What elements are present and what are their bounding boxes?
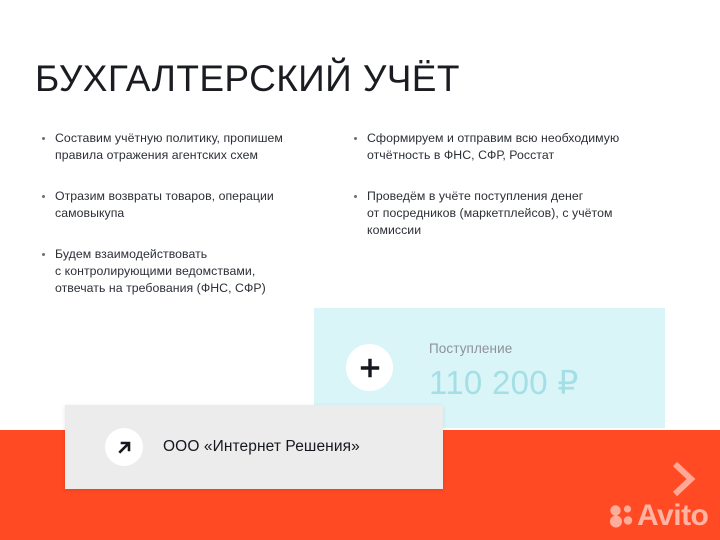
bullet-line: отчётность в ФНС, СФР, Росстат	[367, 147, 652, 164]
payment-type-label: Поступление	[429, 341, 579, 357]
bullet-line: с контролирующими ведомствами,	[55, 263, 330, 280]
bullet-column-right: Сформируем и отправим всю необходимую от…	[352, 130, 652, 239]
bullet-line: Отразим возвраты товаров, операции	[55, 188, 330, 205]
page-title: БУХГАЛТЕРСКИЙ УЧЁТ	[35, 57, 460, 101]
bullet-line: Сформируем и отправим всю необходимую	[367, 130, 652, 147]
bullet-column-left: Составим учётную политику, пропишем прав…	[40, 130, 330, 297]
plus-icon	[346, 344, 393, 391]
list-item: Будем взаимодействовать с контролирующим…	[40, 246, 330, 297]
bullet-line: Составим учётную политику, пропишем	[55, 130, 330, 147]
slide-root: БУХГАЛТЕРСКИЙ УЧЁТ Составим учётную поли…	[0, 0, 720, 540]
bullet-line: самовыкупа	[55, 205, 330, 222]
bullet-dot-icon	[42, 137, 45, 140]
list-item: Составим учётную политику, пропишем прав…	[40, 130, 330, 164]
bullet-line: отвечать на требования (ФНС, СФР)	[55, 280, 330, 297]
counterparty-card: ООО «Интернет Решения»	[65, 405, 443, 489]
bullet-line: правила отражения агентских схем	[55, 147, 330, 164]
bullet-dot-icon	[354, 195, 357, 198]
bullet-dot-icon	[42, 253, 45, 256]
counterparty-name: ООО «Интернет Решения»	[163, 438, 360, 456]
bullet-line: от посредников (маркетплейсов), с учётом	[367, 205, 652, 222]
bullet-line: Будем взаимодействовать	[55, 246, 330, 263]
list-item: Сформируем и отправим всю необходимую от…	[352, 130, 652, 164]
bullet-dot-icon	[42, 195, 45, 198]
bullet-line: Проведём в учёте поступления денег	[367, 188, 652, 205]
arrow-up-right-icon	[105, 428, 143, 466]
payment-amount: 110 200 ₽	[429, 364, 579, 402]
list-item: Отразим возвраты товаров, операции самов…	[40, 188, 330, 222]
bullet-dot-icon	[354, 137, 357, 140]
bullet-line: комиссии	[367, 222, 652, 239]
list-item: Проведём в учёте поступления денег от по…	[352, 188, 652, 239]
incoming-payment-text: Поступление 110 200 ₽	[429, 341, 579, 402]
